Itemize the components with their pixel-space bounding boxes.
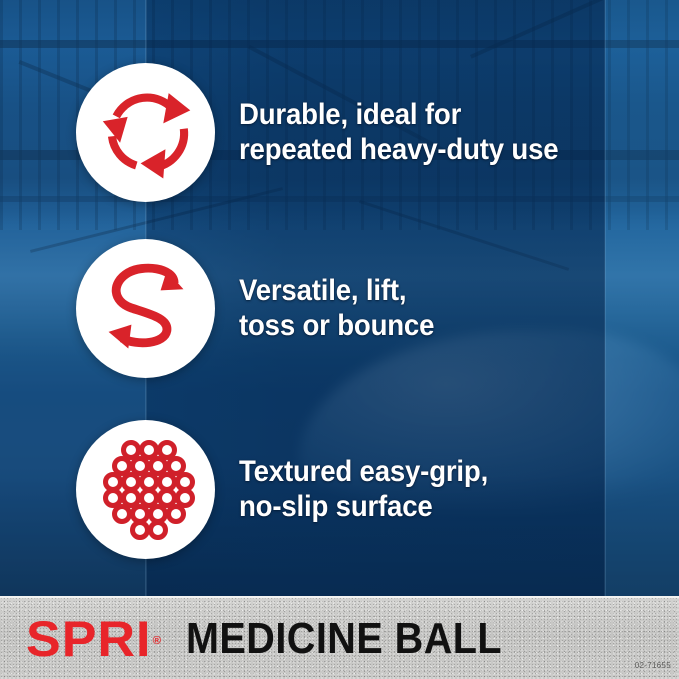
- feature-text: Textured easy-grip, no-slip surface: [239, 454, 488, 525]
- feature-line: no-slip surface: [239, 489, 488, 524]
- product-title: MEDICINE BALL: [186, 617, 502, 661]
- feature-line: Textured easy-grip,: [239, 454, 488, 489]
- brand-logo: SPRI®: [26, 614, 161, 664]
- feature-row: Textured easy-grip, no-slip surface: [0, 418, 679, 560]
- s-curve-double-arrow-icon: [94, 256, 198, 360]
- feature-badge-versatile: [76, 239, 215, 378]
- feature-text: Versatile, lift, toss or bounce: [239, 273, 434, 344]
- feature-line: toss or bounce: [239, 308, 434, 343]
- feature-list: Durable, ideal for repeated heavy-duty u…: [0, 0, 679, 596]
- feature-row: Versatile, lift, toss or bounce: [0, 238, 679, 378]
- product-feature-panel: Durable, ideal for repeated heavy-duty u…: [0, 0, 679, 679]
- feature-row: Durable, ideal for repeated heavy-duty u…: [0, 62, 679, 202]
- registered-mark: ®: [153, 635, 162, 647]
- feature-badge-durable: [76, 63, 215, 202]
- feature-line: Versatile, lift,: [239, 273, 434, 308]
- feature-line: repeated heavy-duty use: [239, 132, 558, 167]
- feature-text: Durable, ideal for repeated heavy-duty u…: [239, 97, 558, 168]
- feature-badge-grip: [76, 420, 215, 559]
- grip-dots-icon: [91, 434, 201, 544]
- circular-arrows-icon: [92, 78, 200, 186]
- brand-footer-bar: SPRI® MEDICINE BALL 02-71655: [0, 596, 679, 679]
- sku-code: 02-71655: [635, 661, 671, 670]
- brand-name: SPRI: [26, 611, 152, 667]
- feature-line: Durable, ideal for: [239, 97, 558, 132]
